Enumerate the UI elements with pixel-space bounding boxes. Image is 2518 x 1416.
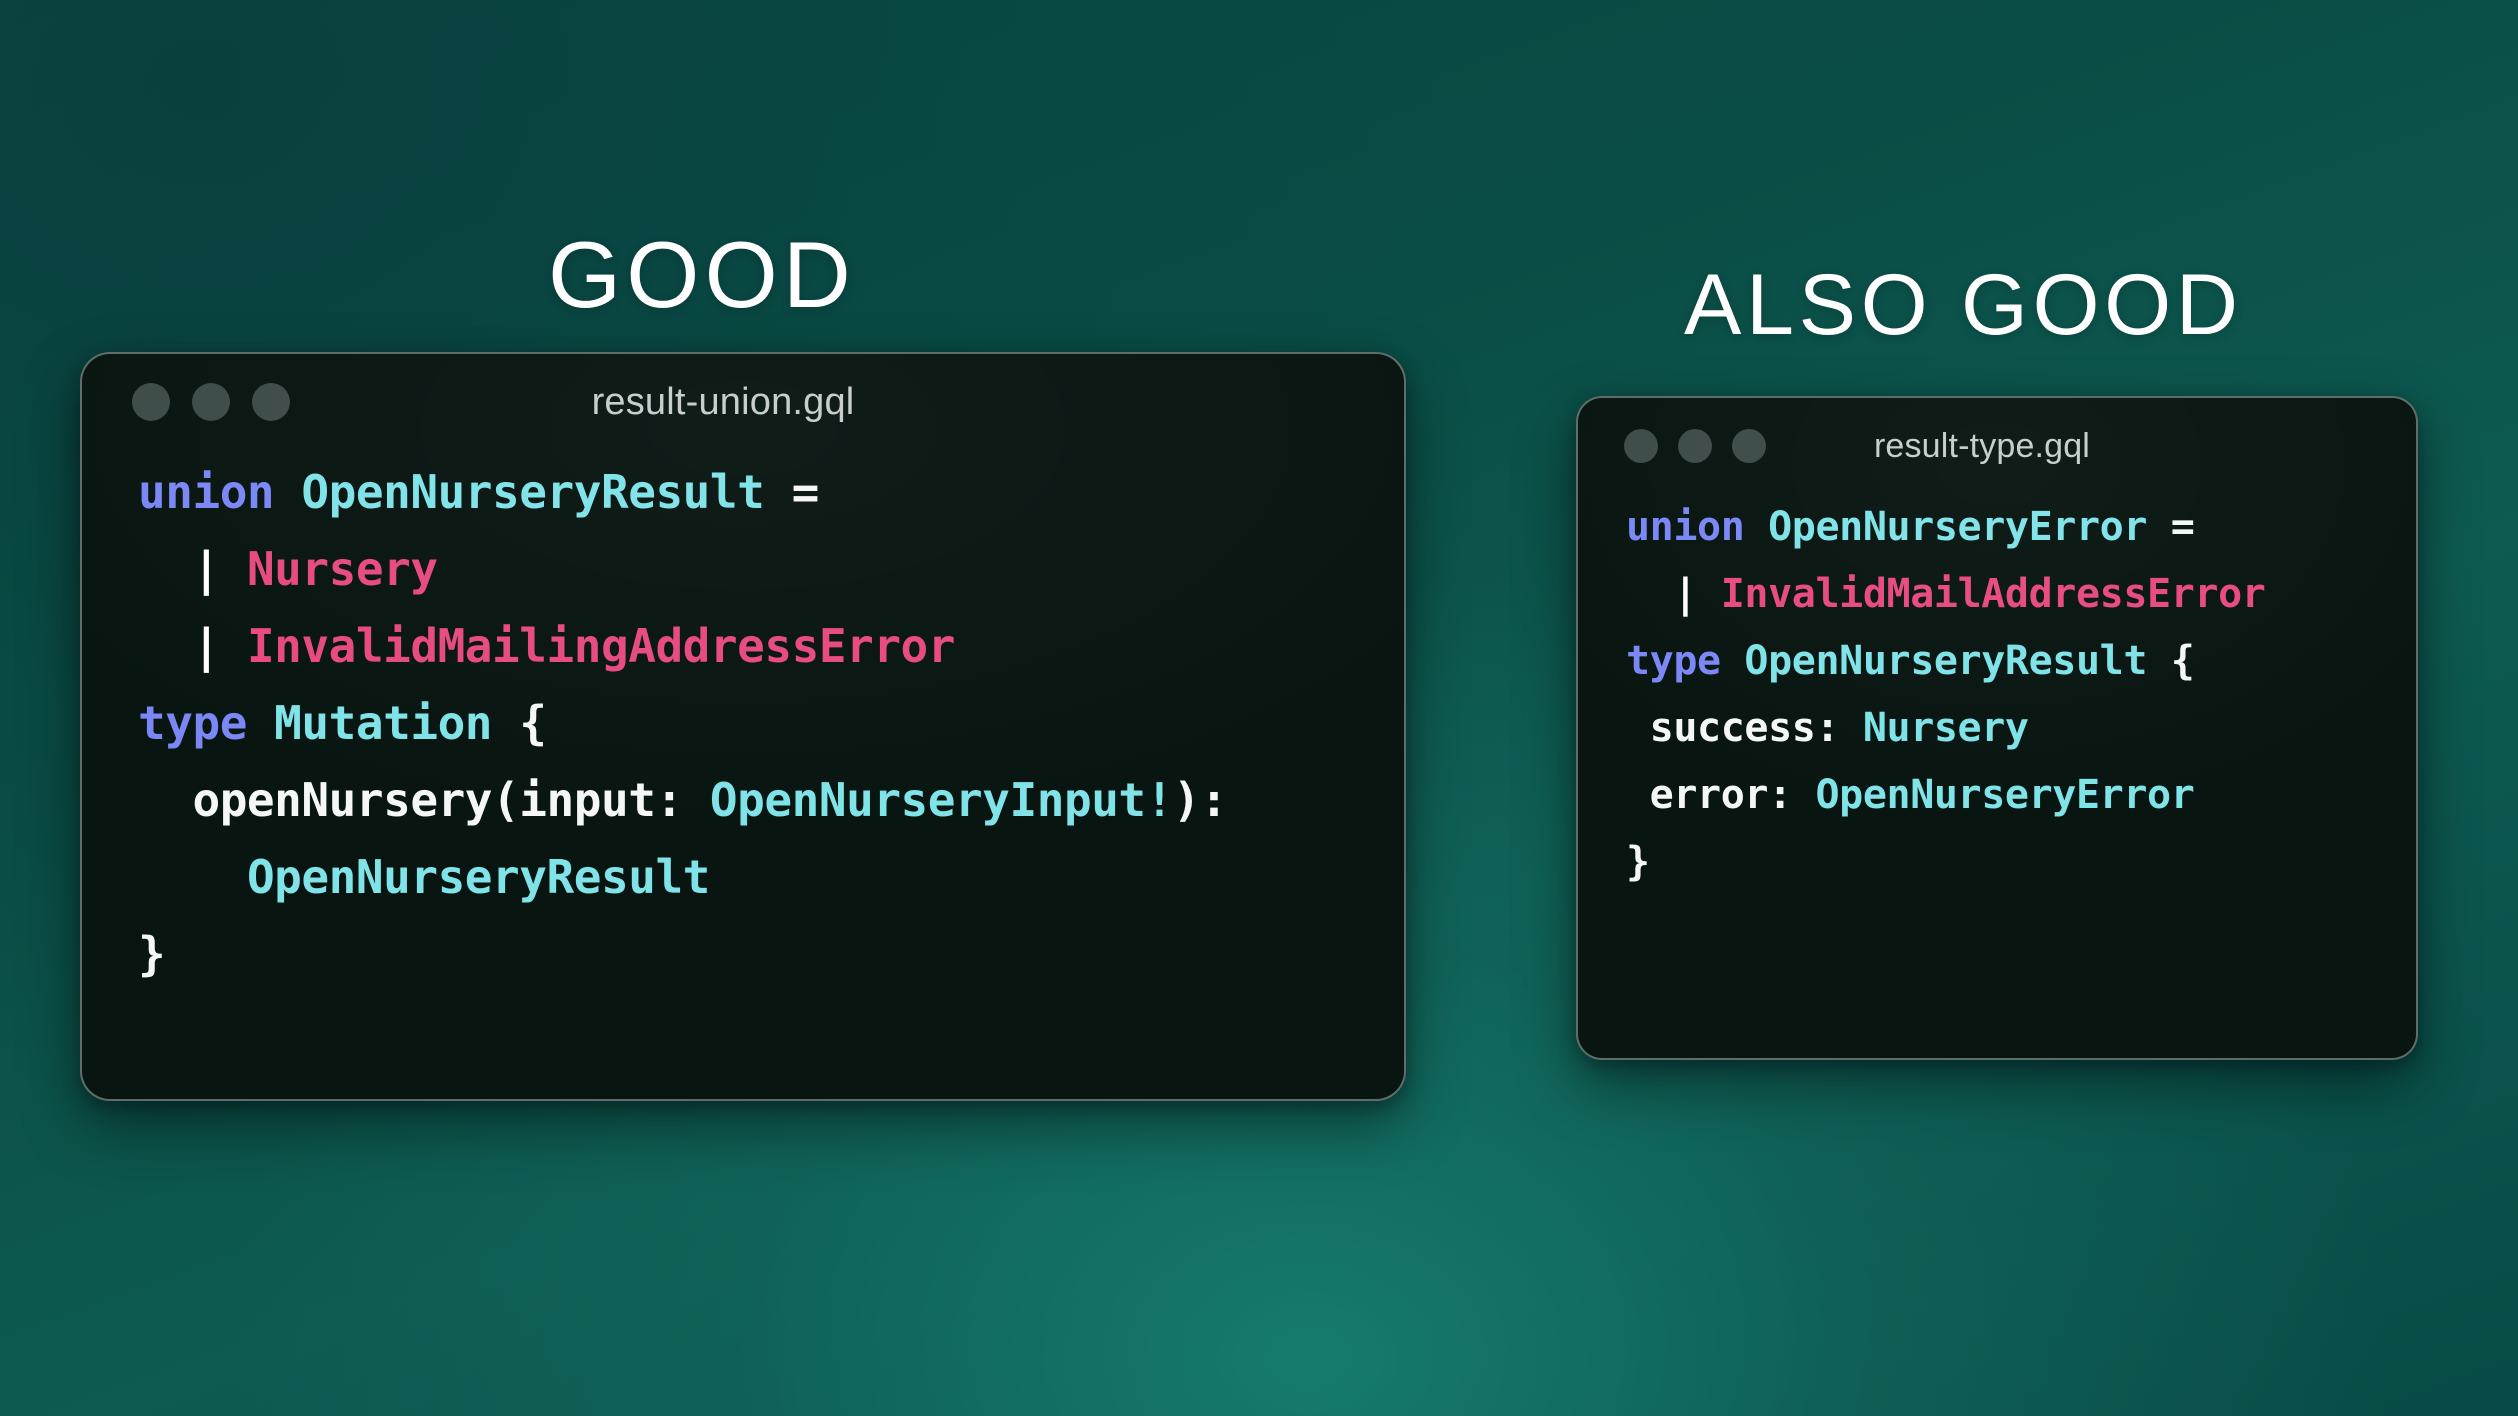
code-token xyxy=(138,850,247,904)
code-token: Mutation xyxy=(274,696,519,750)
code-token: InvalidMailAddressError xyxy=(1721,571,2266,617)
code-token: { xyxy=(2171,638,2195,684)
code-token xyxy=(1626,571,1673,617)
code-token: type xyxy=(138,696,274,750)
code-token: OpenNurseryResult xyxy=(301,465,791,519)
traffic-lights xyxy=(82,383,290,421)
close-dot-icon[interactable] xyxy=(132,383,170,421)
code-token: OpenNurseryResult xyxy=(247,850,710,904)
code-token: union xyxy=(138,465,301,519)
code-window-good: result-union.gql union OpenNurseryResult… xyxy=(80,352,1406,1101)
code-token: OpenNurseryError xyxy=(1815,772,2194,818)
code-token: | xyxy=(192,542,246,596)
code-token: InvalidMailingAddressError xyxy=(247,619,955,673)
code-window-titlebar: result-union.gql xyxy=(82,354,1404,450)
code-block-also-good: union OpenNurseryError = | InvalidMailAd… xyxy=(1578,494,2416,896)
code-token: Nursery xyxy=(1863,705,2029,751)
traffic-lights xyxy=(1578,429,1766,463)
code-token: = xyxy=(2171,504,2195,550)
code-token: OpenNurseryResult xyxy=(1744,638,2170,684)
code-token: union xyxy=(1626,504,1768,550)
code-token: OpenNurseryError xyxy=(1768,504,2171,550)
code-token: error: xyxy=(1626,772,1815,818)
code-window-titlebar: result-type.gql xyxy=(1578,398,2416,494)
code-token: Nursery xyxy=(247,542,438,596)
panel-heading-good: GOOD xyxy=(548,228,856,322)
code-window-also-good: result-type.gql union OpenNurseryError =… xyxy=(1576,396,2418,1060)
minimize-dot-icon[interactable] xyxy=(192,383,230,421)
code-token xyxy=(138,542,192,596)
code-token: success: xyxy=(1626,705,1863,751)
panel-heading-also-good: ALSO GOOD xyxy=(1684,262,2243,348)
code-token: { xyxy=(519,696,546,750)
slide-canvas: GOOD result-union.gql union OpenNurseryR… xyxy=(0,0,2518,1416)
code-token: = xyxy=(792,465,819,519)
code-token: | xyxy=(192,619,246,673)
code-block-good: union OpenNurseryResult = | Nursery | In… xyxy=(82,450,1404,993)
code-token: } xyxy=(138,927,165,981)
code-token: type xyxy=(1626,638,1744,684)
minimize-dot-icon[interactable] xyxy=(1678,429,1712,463)
code-token: } xyxy=(1626,839,1650,885)
code-token xyxy=(138,619,192,673)
maximize-dot-icon[interactable] xyxy=(252,383,290,421)
code-token: openNursery(input: xyxy=(138,773,710,827)
code-token: | xyxy=(1673,571,1720,617)
close-dot-icon[interactable] xyxy=(1624,429,1658,463)
code-token: ): xyxy=(1173,773,1227,827)
maximize-dot-icon[interactable] xyxy=(1732,429,1766,463)
code-token: OpenNurseryInput! xyxy=(710,773,1173,827)
